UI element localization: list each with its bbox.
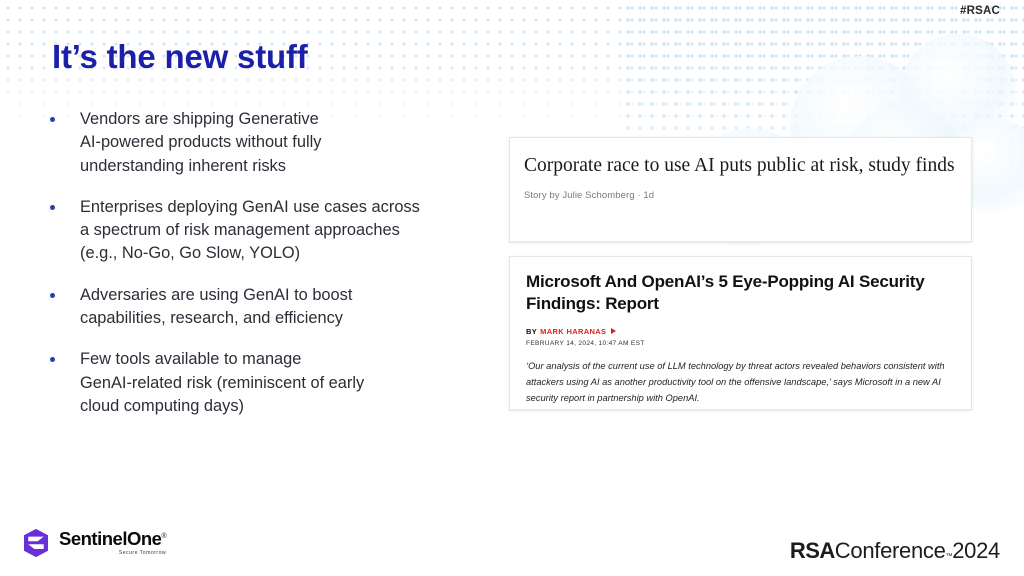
sentinelone-logo: SentinelOne® Secure Tomorrow [22,528,166,558]
sentinelone-tagline: Secure Tomorrow [59,550,166,556]
list-item: Adversaries are using GenAI to boost cap… [50,284,470,331]
rsac-hashtag: #RSAC [960,5,1000,17]
sentinelone-hexagon-icon [22,528,50,558]
play-icon[interactable] [611,328,616,334]
sentinelone-wordmark: SentinelOne® [59,530,166,549]
trademark-mark: ™ [946,553,953,560]
byline-prefix: BY [526,327,537,336]
news-cards-column: Corporate race to use AI puts public at … [509,137,972,410]
bullet-dot-icon [50,293,55,298]
news-byline: Story by Julie Schomberg · 1d [524,190,957,201]
page-title: It’s the new stuff [52,38,308,76]
byline-author-link[interactable]: MARK HARANAS [540,327,606,336]
bullet-dot-icon [50,205,55,210]
bullet-text: Few tools available to manage GenAI-rela… [80,348,364,418]
bullet-dot-icon [50,357,55,362]
rsa-year-text: 2024 [952,538,1000,564]
rsa-light-text: Conference [835,538,946,564]
news-headline: Microsoft And OpenAI’s 5 Eye-Popping AI … [526,271,955,316]
registered-mark: ® [161,533,166,540]
list-item: Few tools available to manage GenAI-rela… [50,348,470,418]
rsa-bold-text: RSA [790,538,835,564]
list-item: Enterprises deploying GenAI use cases ac… [50,196,470,266]
background-blob [900,34,1016,150]
sentinelone-wordmark-block: SentinelOne® Secure Tomorrow [59,530,166,557]
news-quote: ‘Our analysis of the current use of LLM … [526,359,955,407]
sentinelone-name: SentinelOne [59,528,161,549]
bullet-text: Adversaries are using GenAI to boost cap… [80,284,352,331]
news-byline: BY MARK HARANAS [526,327,955,336]
bullet-list: Vendors are shipping Generative AI-power… [50,108,470,436]
news-timestamp: FEBRUARY 14, 2024, 10:47 AM EST [526,340,955,347]
bullet-dot-icon [50,117,55,122]
news-headline: Corporate race to use AI puts public at … [524,154,957,177]
news-card-microsoft-openai[interactable]: Microsoft And OpenAI’s 5 Eye-Popping AI … [509,256,972,410]
news-card-corporate-race[interactable]: Corporate race to use AI puts public at … [509,137,972,242]
bullet-text: Enterprises deploying GenAI use cases ac… [80,196,420,266]
list-item: Vendors are shipping Generative AI-power… [50,108,470,178]
bullet-text: Vendors are shipping Generative AI-power… [80,108,321,178]
rsa-conference-logo: RSAConference™2024 [790,538,1000,564]
